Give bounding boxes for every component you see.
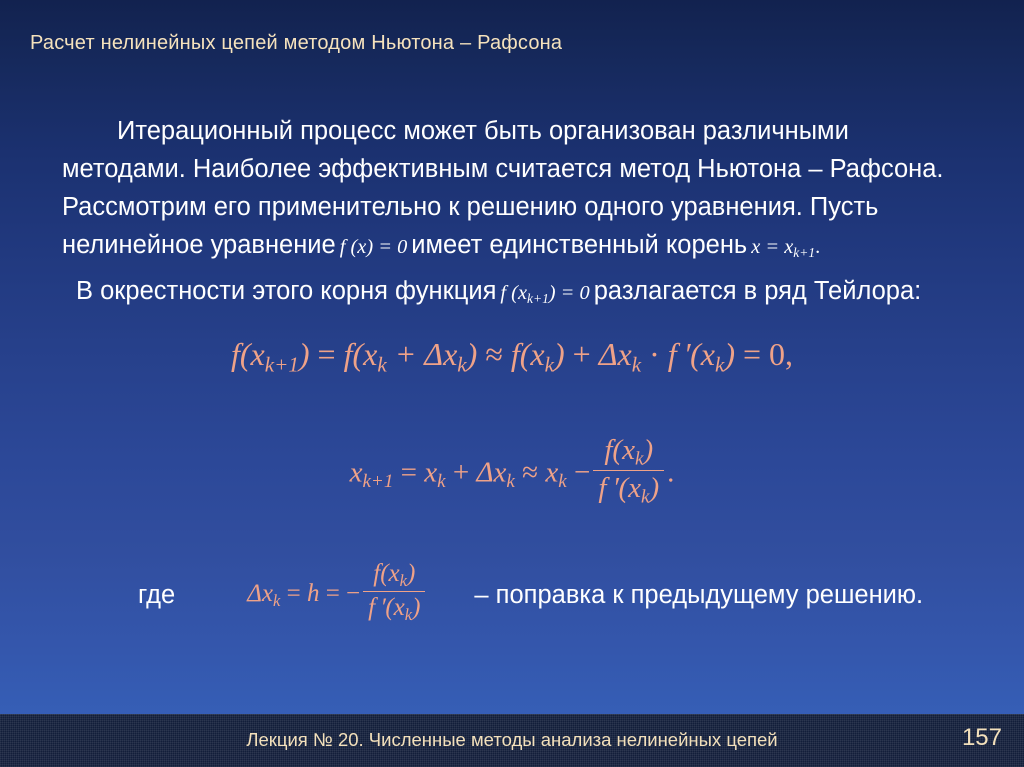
fraction-denominator: f ′(xk) [593,470,664,508]
where-label: где [138,581,175,610]
body-line-1: Итерационный процесс может быть организо… [62,112,977,150]
body-line-3: Рассмотрим его применительно к решению о… [62,188,977,226]
footer-lecture-title: Лекция № 20. Численные методы анализа не… [0,729,1024,751]
slide-body-text: Итерационный процесс может быть организо… [62,112,977,318]
body-line-4-before: нелинейное уравнение [62,231,336,259]
inline-formula-x-equals-xk1: x = xk+1. [747,236,824,258]
body-line-5-before: В окрестности этого корня функция [76,277,496,305]
fraction-f-over-fprime: f(xk)f ′(xk) [593,435,664,509]
display-equation-taylor-expansion: f(xk+1) = f(xk + Δxk) ≈ f(xk) + Δxk · f … [0,336,1024,377]
slide-canvas: Расчет нелинейных цепей методом Ньютона … [0,0,1024,767]
body-line-4: нелинейное уравнениеf (x) = 0имеет единс… [62,226,977,272]
fraction-numerator: f(xk) [363,560,425,591]
inline-formula-fx-equals-zero: f (x) = 0 [336,236,412,258]
body-line-5: В окрестности этого корня функцияf (xk+1… [62,272,977,318]
page-number: 157 [962,724,1002,752]
where-tail-text: – поправка к предыдущему решению. [474,581,923,610]
where-clause-row: где Δxk = h = −f(xk)f ′(xk) – поправка к… [138,563,923,627]
footer-band: Лекция № 20. Численные методы анализа не… [0,714,1024,767]
display-equation-newton-iteration: xk+1 = xk + Δxk ≈ xk −f(xk)f ′(xk). [0,438,1024,512]
inline-formula-fxk1-equals-zero: f (xk+1) = 0 [496,282,593,304]
body-line-2: методами. Наиболее эффективным считается… [62,150,977,188]
fraction-denominator: f ′(xk) [363,591,425,624]
fraction-numerator: f(xk) [593,435,664,471]
fraction-f-over-fprime-correction: f(xk)f ′(xk) [363,560,425,624]
display-equation-correction-term: Δxk = h = −f(xk)f ′(xk) [247,563,428,627]
body-line-4-middle: имеет единственный корень [411,231,747,259]
slide-title: Расчет нелинейных цепей методом Ньютона … [30,32,562,55]
body-line-5-after: разлагается в ряд Тейлора: [594,277,922,305]
